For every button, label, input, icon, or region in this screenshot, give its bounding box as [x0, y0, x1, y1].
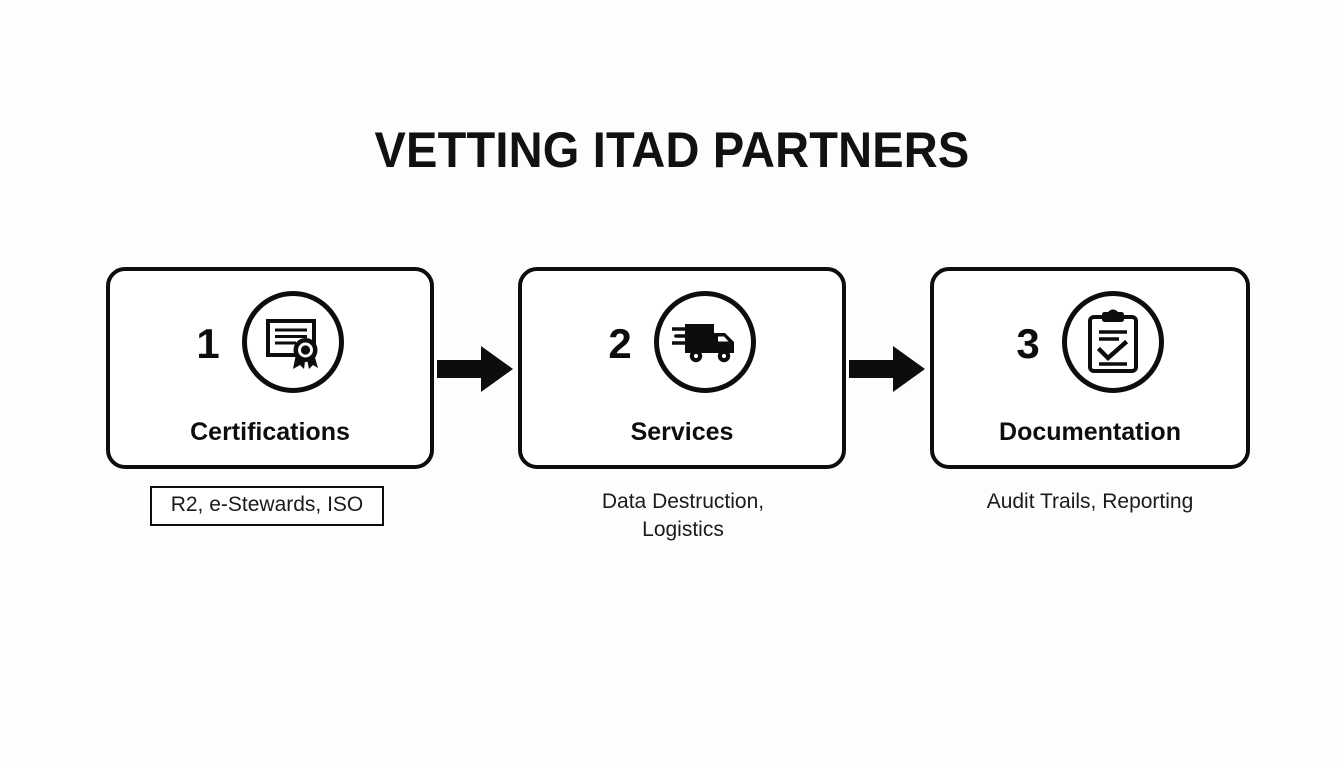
step-card-header: 2 [522, 283, 842, 401]
caption-line: Data Destruction, [602, 490, 764, 513]
arrow-right-icon [437, 346, 513, 392]
page-title: VETTING ITAD PARTNERS [40, 118, 1303, 182]
step-card-label: Certifications [110, 417, 430, 447]
step-number: 1 [196, 323, 219, 365]
arrow-right-icon [849, 346, 925, 392]
step-number: 2 [608, 323, 631, 365]
step-card-label: Services [522, 417, 842, 447]
delivery-truck-icon [654, 291, 756, 393]
certificate-icon [242, 291, 344, 393]
step-card-certifications[interactable]: 1 Certifications [106, 267, 434, 469]
step-card-header: 3 [934, 283, 1246, 401]
step-caption-services: Data Destruction, Logistics [540, 488, 826, 544]
step-number: 3 [1016, 323, 1039, 365]
clipboard-check-icon [1062, 291, 1164, 393]
step-card-label: Documentation [934, 417, 1246, 447]
step-card-header: 1 [110, 283, 430, 401]
step-caption-certifications: R2, e-Stewards, ISO [150, 486, 384, 526]
step-caption-documentation: Audit Trails, Reporting [944, 488, 1236, 516]
step-card-documentation[interactable]: 3 Documentation [930, 267, 1250, 469]
step-card-services[interactable]: 2 Ser [518, 267, 846, 469]
process-flow: 1 Certifications [106, 267, 1249, 469]
caption-line: Logistics [642, 518, 724, 541]
